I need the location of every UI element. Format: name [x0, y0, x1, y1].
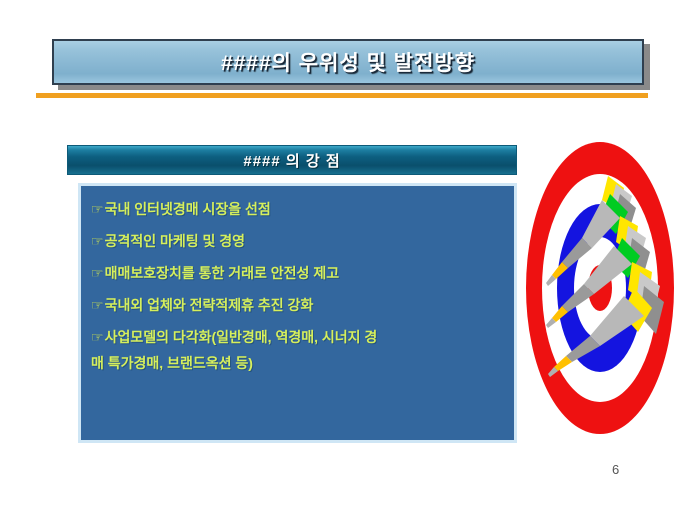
orange-divider	[36, 93, 648, 98]
list-item-label: 국내 인터넷경매 시장을 선점	[105, 200, 271, 218]
dart-target-graphic	[524, 138, 676, 438]
page-title: ####의 우위성 및 발전방향	[221, 47, 475, 77]
slide-canvas: ####의 우위성 및 발전방향 #### 의 강 점 ☞ 국내 인터넷경매 시…	[0, 0, 680, 510]
pointing-hand-icon: ☞	[91, 200, 104, 218]
pointing-hand-icon: ☞	[91, 296, 104, 314]
list-item-label: 사업모델의 다각화(일반경매, 역경매, 시너지 경	[105, 328, 378, 346]
list-item: ☞ 공격적인 마케팅 및 경영	[87, 232, 508, 250]
list-item-label: 국내외 업체와 전략적제휴 추진 강화	[105, 296, 314, 314]
page-number: 6	[612, 462, 619, 477]
list-item-label: 공격적인 마케팅 및 경영	[105, 232, 245, 250]
list-item: ☞ 국내 인터넷경매 시장을 선점	[87, 200, 508, 218]
list-item: ☞ 국내외 업체와 전략적제휴 추진 강화	[87, 296, 508, 314]
pointing-hand-icon: ☞	[91, 264, 104, 282]
panel-header: #### 의 강 점	[67, 145, 517, 175]
list-item: ☞ 사업모델의 다각화(일반경매, 역경매, 시너지 경	[87, 328, 508, 346]
list-item: ☞ 매매보호장치를 통한 거래로 안전성 제고	[87, 264, 508, 282]
pointing-hand-icon: ☞	[91, 232, 104, 250]
title-banner: ####의 우위성 및 발전방향	[52, 39, 644, 85]
panel-header-label: #### 의 강 점	[243, 150, 340, 171]
list-item-label: 매매보호장치를 통한 거래로 안전성 제고	[105, 264, 340, 282]
pointing-hand-icon: ☞	[91, 328, 104, 346]
panel-body: ☞ 국내 인터넷경매 시장을 선점 ☞ 공격적인 마케팅 및 경영 ☞ 매매보호…	[78, 183, 517, 443]
strengths-panel: #### 의 강 점 ☞ 국내 인터넷경매 시장을 선점 ☞ 공격적인 마케팅 …	[67, 145, 517, 445]
list-item-continuation: 매 특가경매, 브랜드옥션 등)	[91, 354, 508, 372]
